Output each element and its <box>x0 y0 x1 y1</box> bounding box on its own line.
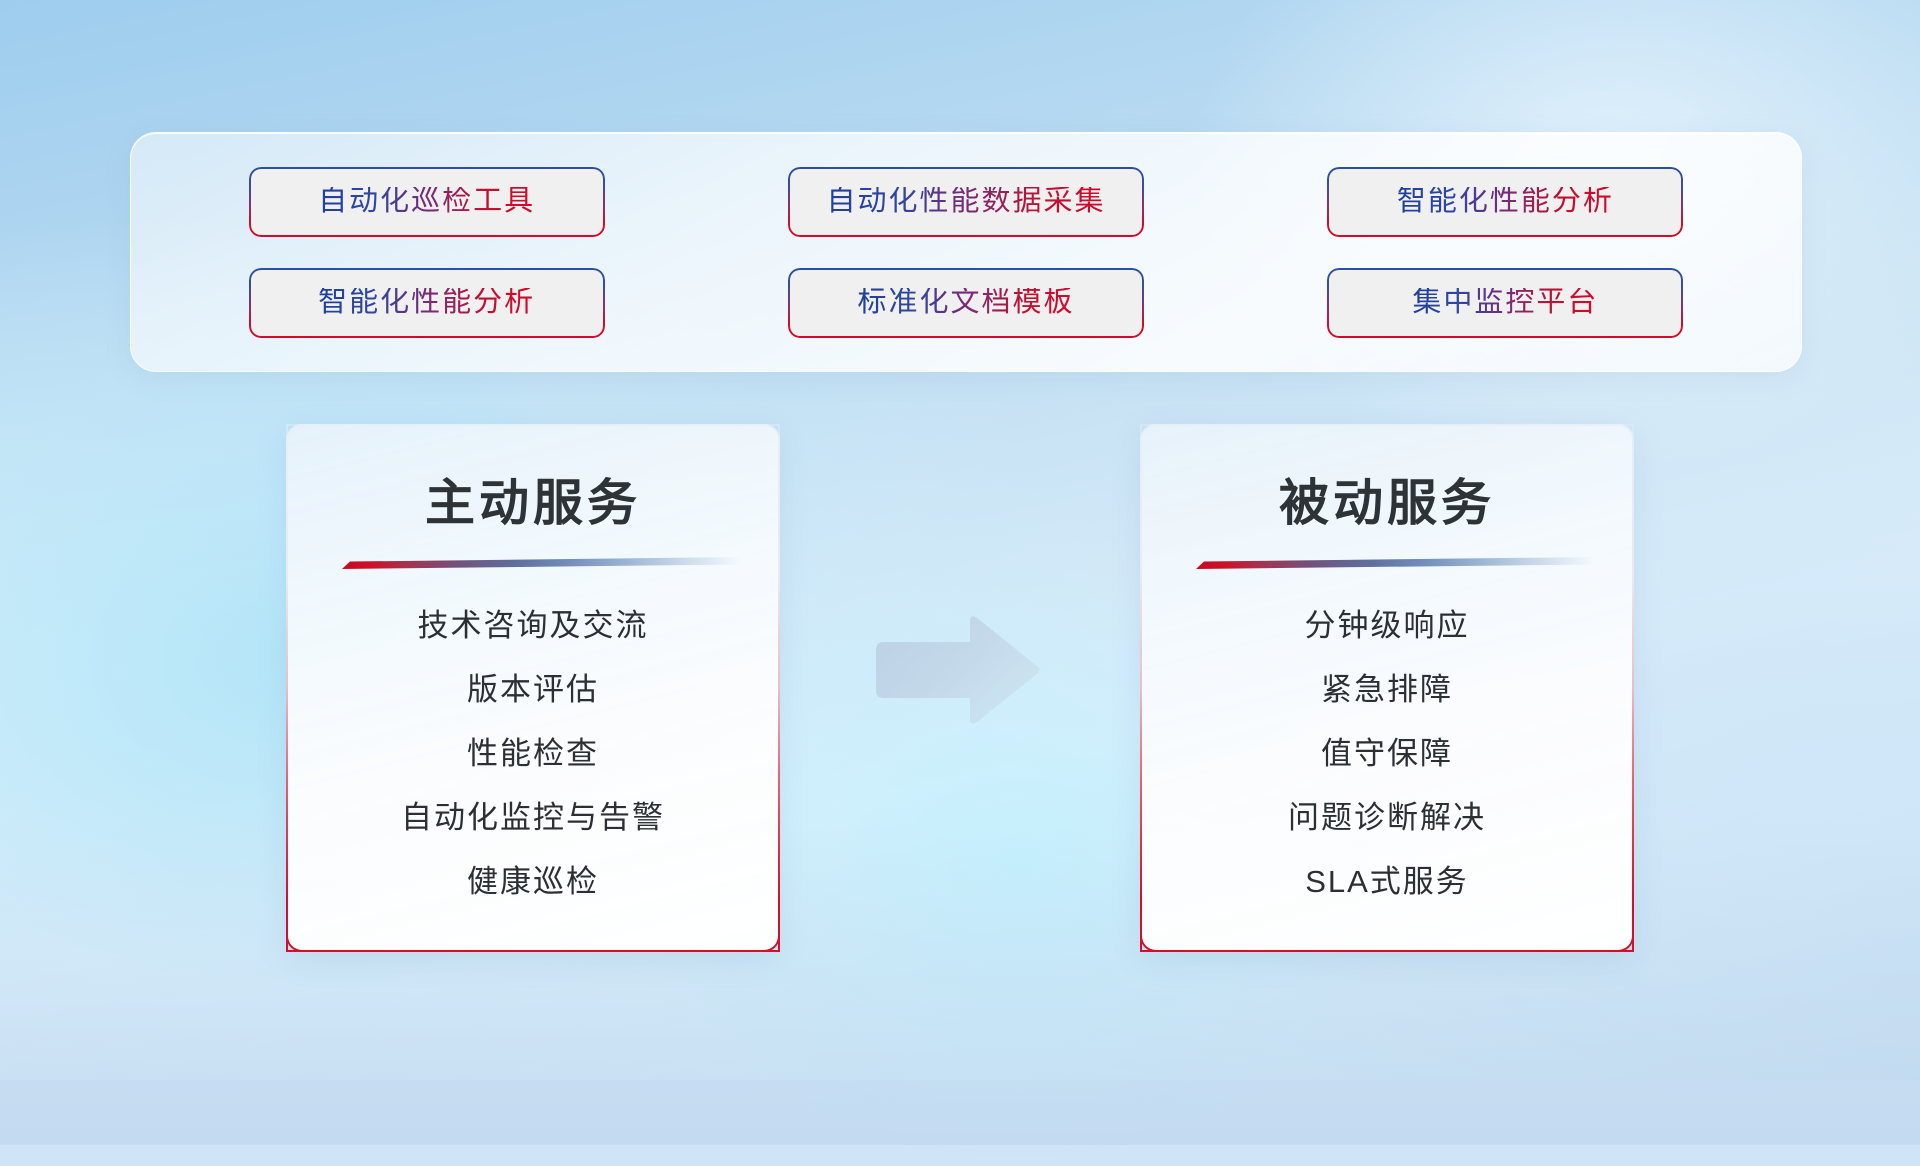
capability-pill[interactable]: 智能化性能分析 <box>1327 167 1683 237</box>
diagram-stage: 自动化巡检工具 自动化性能数据采集 智能化性能分析 智能化性能分析 标准化文档模… <box>0 0 1920 1080</box>
capability-pill-label: 标准化文档模板 <box>857 288 1074 317</box>
capability-pill-label: 自动化性能数据采集 <box>826 187 1105 216</box>
card-title: 被动服务 <box>1170 476 1604 531</box>
capability-pill[interactable]: 标准化文档模板 <box>788 268 1144 338</box>
card-divider <box>1196 557 1594 569</box>
service-card-active[interactable]: 主动服务 技术咨询及交流 版本评估 性能检查 自动化监控与告警 健康巡检 <box>286 424 780 952</box>
capability-pill[interactable]: 自动化性能数据采集 <box>788 167 1144 237</box>
list-item: 健康巡检 <box>467 865 599 899</box>
arrow-right-icon <box>872 614 1042 726</box>
capability-pill-label: 集中监控平台 <box>1412 288 1598 317</box>
capability-pill[interactable]: 智能化性能分析 <box>249 268 605 338</box>
list-item: 分钟级响应 <box>1305 609 1470 643</box>
capability-pill-label: 智能化性能分析 <box>318 288 535 317</box>
list-item: 值守保障 <box>1321 737 1453 771</box>
card-divider <box>342 557 740 569</box>
list-item: SLA式服务 <box>1305 865 1469 899</box>
capability-pill[interactable]: 集中监控平台 <box>1327 268 1683 338</box>
service-card-passive[interactable]: 被动服务 分钟级响应 紧急排障 值守保障 问题诊断解决 SLA式服务 <box>1140 424 1634 952</box>
capability-pill-label: 自动化巡检工具 <box>318 187 535 216</box>
list-item: 问题诊断解决 <box>1288 801 1486 835</box>
list-item: 技术咨询及交流 <box>418 609 649 643</box>
capability-band: 自动化巡检工具 自动化性能数据采集 智能化性能分析 智能化性能分析 标准化文档模… <box>130 132 1802 372</box>
card-title: 主动服务 <box>316 476 750 531</box>
card-item-list: 分钟级响应 紧急排障 值守保障 问题诊断解决 SLA式服务 <box>1170 609 1604 899</box>
capability-pill-label: 智能化性能分析 <box>1397 187 1614 216</box>
list-item: 紧急排障 <box>1321 673 1453 707</box>
list-item: 自动化监控与告警 <box>401 801 665 835</box>
list-item: 性能检查 <box>467 737 599 771</box>
list-item: 版本评估 <box>467 673 599 707</box>
card-item-list: 技术咨询及交流 版本评估 性能检查 自动化监控与告警 健康巡检 <box>316 609 750 899</box>
capability-pill[interactable]: 自动化巡检工具 <box>249 167 605 237</box>
